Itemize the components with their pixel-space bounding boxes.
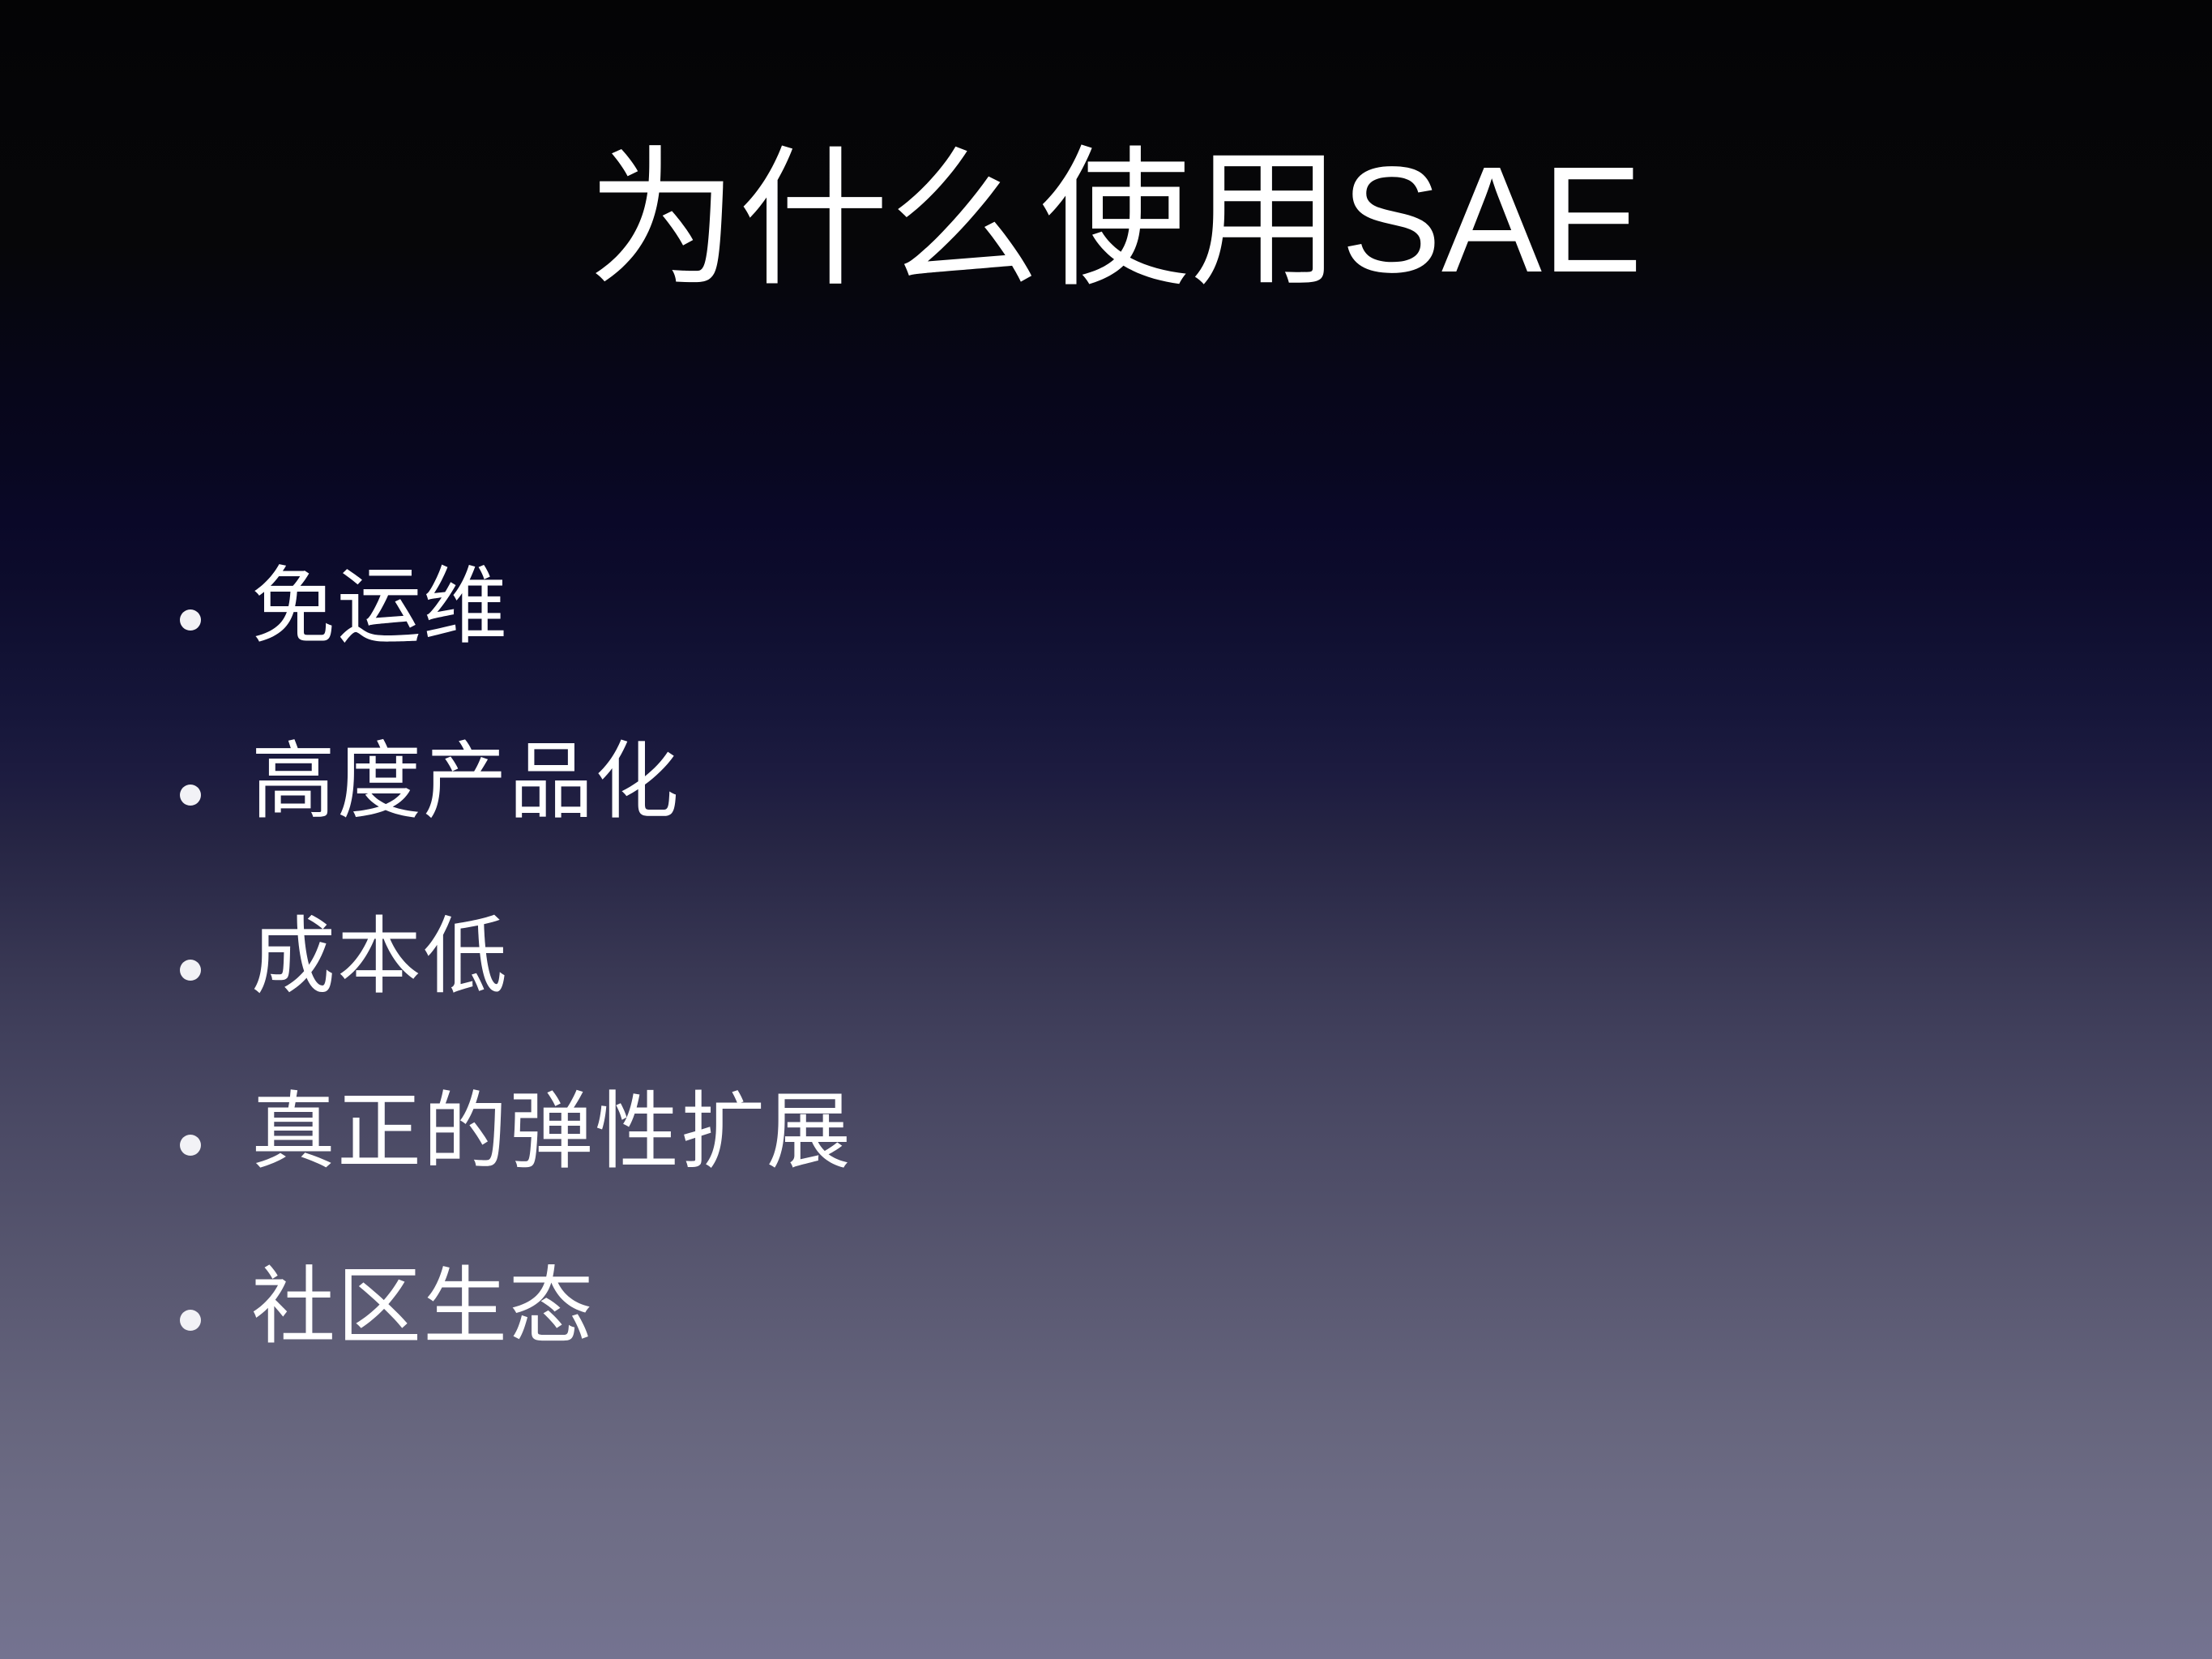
bullet-item-label: 真正的弹性扩展 <box>251 1084 852 1180</box>
bullet-dot-icon <box>162 1084 251 1180</box>
bullet-item-label: 免运维 <box>251 559 509 655</box>
bullet-item-label: 高度产品化 <box>251 734 681 830</box>
slide-title-block: 为什么使用SAE <box>0 136 2212 305</box>
bullet-item-label: 社区生态 <box>251 1259 595 1355</box>
bullet-dot-icon <box>162 559 251 655</box>
bullet-dot-icon <box>162 734 251 830</box>
bullet-item-4: 真正的弹性扩展 <box>162 1084 2066 1259</box>
bullet-item-5: 社区生态 <box>162 1259 2066 1435</box>
slide-title: 为什么使用SAE <box>570 136 1642 305</box>
bullet-item-label: 成本低 <box>251 909 509 1005</box>
bullet-dot-icon <box>162 1259 251 1355</box>
bullet-dot-icon <box>162 909 251 1005</box>
presentation-slide: 为什么使用SAE 免运维 高度产品化 成本低 真正的弹性扩展 社区生态 <box>0 0 2212 1659</box>
bullet-list: 免运维 高度产品化 成本低 真正的弹性扩展 社区生态 <box>162 559 2066 1435</box>
bullet-item-3: 成本低 <box>162 909 2066 1084</box>
bullet-item-2: 高度产品化 <box>162 734 2066 909</box>
bullet-item-1: 免运维 <box>162 559 2066 734</box>
